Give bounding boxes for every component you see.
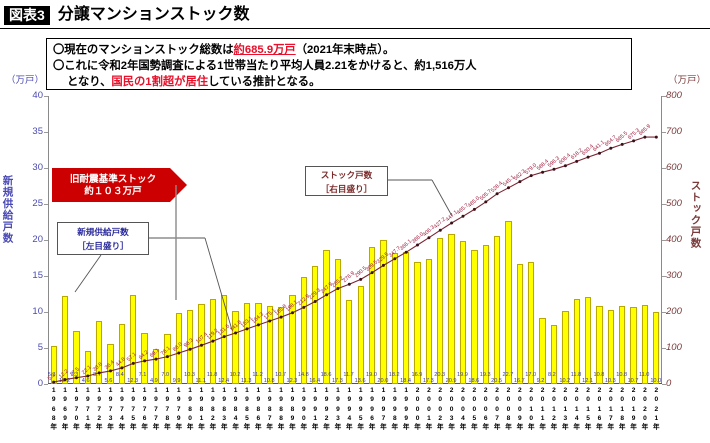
year-digit: 年	[514, 423, 525, 432]
year-label: 2000年	[412, 386, 423, 432]
stock-point	[359, 278, 362, 281]
year-digit: 年	[367, 423, 378, 432]
year-digit: 9	[321, 395, 332, 404]
year-digit: 年	[230, 423, 241, 432]
year-digit: 年	[276, 423, 287, 432]
stock-point	[291, 311, 294, 314]
callout-1-highlight: 約685.9万戸	[234, 44, 296, 56]
year-digit: 年	[605, 423, 616, 432]
banner-line-2: 約１０３万戸	[52, 187, 174, 197]
year-digit: 7	[94, 405, 105, 414]
year-label: 1970年	[71, 386, 82, 432]
year-digit: 9	[389, 395, 400, 404]
year-digit: 2	[651, 386, 662, 395]
banner-line-1: 旧耐震基準ストック	[52, 175, 174, 185]
right-tick-label: 300	[666, 270, 696, 281]
year-digit: 8	[276, 405, 287, 414]
year-digit: 9	[60, 414, 71, 423]
year-digit: 1	[116, 386, 127, 395]
right-tick-label: 400	[666, 234, 696, 245]
year-digit: 年	[469, 423, 480, 432]
year-digit: 1	[605, 405, 616, 414]
year-digit: 1	[537, 405, 548, 414]
year-label: 2009年	[514, 386, 525, 432]
year-digit: 7	[105, 405, 116, 414]
year-digit: 9	[219, 395, 230, 404]
year-label: 1987年	[264, 386, 275, 432]
year-label: 2001年	[423, 386, 434, 432]
year-label: 1982年	[207, 386, 218, 432]
year-digit: 4	[116, 414, 127, 423]
year-digit: 9	[401, 395, 412, 404]
year-digit: 9	[230, 395, 241, 404]
year-digit: 年	[412, 423, 423, 432]
year-digit: 9	[253, 395, 264, 404]
year-digit: 0	[435, 405, 446, 414]
year-digit: 2	[94, 414, 105, 423]
year-digit: 8	[162, 414, 173, 423]
year-digit: 1	[94, 386, 105, 395]
year-digit: 0	[412, 414, 423, 423]
year-digit: 0	[639, 395, 650, 404]
year-digit: 2	[503, 386, 514, 395]
figure-badge: 図表3	[4, 6, 50, 25]
stock-point	[189, 348, 192, 351]
year-digit: 1	[196, 414, 207, 423]
year-digit: 9	[196, 395, 207, 404]
year-digit: 年	[241, 423, 252, 432]
year-digit: 1	[48, 386, 59, 395]
year-digit: 9	[514, 414, 525, 423]
year-label: 1989年	[287, 386, 298, 432]
year-digit: 年	[480, 423, 491, 432]
year-digit: 0	[537, 395, 548, 404]
year-digit: 年	[60, 423, 71, 432]
year-digit: 2	[492, 386, 503, 395]
stock-point	[52, 381, 55, 384]
year-digit: 年	[94, 423, 105, 432]
stock-point	[621, 143, 624, 146]
year-digit: 9	[355, 395, 366, 404]
year-digit: 2	[605, 386, 616, 395]
year-digit: 8	[241, 405, 252, 414]
year-label: 1983年	[219, 386, 230, 432]
legend-box-new-supply: 新規供給戸数 ［左目盛り］	[57, 222, 149, 255]
year-digit: 1	[401, 386, 412, 395]
stock-point	[484, 200, 487, 203]
year-digit: 年	[503, 423, 514, 432]
legend-supply-axis: ［左目盛り］	[58, 239, 148, 253]
callout-3a: となり、	[67, 76, 111, 88]
year-digit: 0	[469, 395, 480, 404]
year-digit: 6	[594, 414, 605, 423]
year-digit: 年	[287, 423, 298, 432]
stock-point	[575, 160, 578, 163]
year-digit: 0	[514, 395, 525, 404]
year-digit: 0	[503, 405, 514, 414]
stock-point	[473, 208, 476, 211]
year-digit: 1	[583, 405, 594, 414]
year-digit: 0	[651, 395, 662, 404]
stock-point	[132, 362, 135, 365]
year-label: 2016年	[594, 386, 605, 432]
year-digit: 9	[94, 395, 105, 404]
year-digit: 年	[162, 423, 173, 432]
year-digit: 2	[548, 386, 559, 395]
year-digit: 0	[526, 414, 537, 423]
year-digit: 1	[196, 386, 207, 395]
left-tick-label: 10	[17, 306, 43, 317]
year-digit: 1	[173, 386, 184, 395]
year-label: 1997年	[378, 386, 389, 432]
year-digit: 1	[82, 414, 93, 423]
left-tick-label: 0	[17, 378, 43, 389]
year-label: 1972年	[94, 386, 105, 432]
stock-point	[166, 355, 169, 358]
year-digit: 2	[321, 414, 332, 423]
stock-point	[280, 316, 283, 319]
year-digit: 3	[560, 414, 571, 423]
year-digit: 3	[105, 414, 116, 423]
year-digit: 2	[480, 386, 491, 395]
year-digit: 年	[548, 423, 559, 432]
year-digit: 0	[639, 414, 650, 423]
year-label: 1993年	[332, 386, 343, 432]
year-digit: 9	[378, 405, 389, 414]
year-digit: 7	[173, 405, 184, 414]
year-digit: 5	[128, 414, 139, 423]
year-digit: 9	[344, 405, 355, 414]
summary-callout: 〇現在のマンションストック総数は約685.9万戸（2021年末時点）。 〇これに…	[46, 38, 632, 90]
year-digit: 6	[139, 414, 150, 423]
year-digit: 年	[651, 423, 662, 432]
year-digit: 8	[276, 414, 287, 423]
right-tick-label: 500	[666, 198, 696, 209]
year-digit: 9	[401, 405, 412, 414]
year-digit: 0	[412, 405, 423, 414]
year-digit: 年	[378, 423, 389, 432]
year-digit: 9	[344, 395, 355, 404]
year-digit: 年	[355, 423, 366, 432]
year-digit: 1	[548, 405, 559, 414]
year-digit: 3	[446, 414, 457, 423]
year-digit: 0	[446, 405, 457, 414]
callout-3b: している推計となる。	[208, 76, 320, 88]
year-digit: 7	[162, 405, 173, 414]
year-digit: 0	[548, 395, 559, 404]
year-digit: 1	[207, 386, 218, 395]
stock-point	[405, 251, 408, 254]
year-digit: 7	[151, 414, 162, 423]
year-digit: 9	[321, 405, 332, 414]
year-label: 1969年	[60, 386, 71, 432]
year-label: 1976年	[139, 386, 150, 432]
year-digit: 1	[287, 386, 298, 395]
year-label: 2014年	[571, 386, 582, 432]
year-digit: 2	[583, 386, 594, 395]
stock-point	[587, 156, 590, 159]
year-digit: 9	[332, 405, 343, 414]
year-digit: 1	[82, 386, 93, 395]
year-digit: 年	[435, 423, 446, 432]
year-digit: 9	[241, 395, 252, 404]
year-digit: 5	[355, 414, 366, 423]
stock-point	[302, 306, 305, 309]
callout-line-3: となり、国民の1割超が居住している推計となる。	[53, 74, 625, 90]
year-digit: 6	[60, 405, 71, 414]
stock-point	[655, 136, 658, 139]
year-digit: 7	[264, 414, 275, 423]
right-tick-label: 700	[666, 126, 696, 137]
legend-box-stock: ストック戸数 ［右目盛り］	[305, 166, 388, 196]
year-digit: 0	[605, 395, 616, 404]
year-digit: 0	[492, 395, 503, 404]
stock-point	[541, 171, 544, 174]
year-digit: 年	[139, 423, 150, 432]
stock-point	[609, 147, 612, 150]
year-digit: 1	[185, 386, 196, 395]
year-digit: 7	[71, 405, 82, 414]
stock-point	[553, 168, 556, 171]
year-digit: 9	[173, 395, 184, 404]
year-digit: 9	[173, 414, 184, 423]
stock-point	[143, 359, 146, 362]
right-tick-label: 0	[666, 378, 696, 389]
year-digit: 1	[219, 386, 230, 395]
year-digit: 5	[241, 414, 252, 423]
year-digit: 1	[560, 405, 571, 414]
year-digit: 0	[628, 395, 639, 404]
year-digit: 1	[310, 414, 321, 423]
year-digit: 年	[389, 423, 400, 432]
year-digit: 年	[446, 423, 457, 432]
stock-point	[439, 229, 442, 232]
year-digit: 2	[560, 386, 571, 395]
stock-point	[177, 352, 180, 355]
year-label: 2004年	[458, 386, 469, 432]
stock-point	[257, 323, 260, 326]
year-digit: 8	[503, 414, 514, 423]
year-digit: 0	[423, 405, 434, 414]
callout-3-highlight: 国民の1割超が居住	[111, 76, 208, 88]
year-digit: 1	[310, 386, 321, 395]
year-digit: 9	[105, 395, 116, 404]
stock-point	[530, 174, 533, 177]
year-digit: 9	[389, 405, 400, 414]
year-digit: 8	[253, 405, 264, 414]
left-tick-label: 20	[17, 234, 43, 245]
year-digit: 2	[594, 386, 605, 395]
year-digit: 9	[287, 395, 298, 404]
year-digit: 2	[435, 386, 446, 395]
year-label: 1971年	[82, 386, 93, 432]
year-digit: 9	[139, 395, 150, 404]
callout-line-2: 〇これに令和2年国勢調査による1世帯当たり平均人員2.21をかけると、約1,51…	[53, 58, 625, 74]
year-digit: 年	[617, 423, 628, 432]
year-label: 2008年	[503, 386, 514, 432]
year-digit: 9	[298, 405, 309, 414]
year-digit: 年	[151, 423, 162, 432]
year-digit: 年	[128, 423, 139, 432]
year-label: 2007年	[492, 386, 503, 432]
year-digit: 年	[628, 423, 639, 432]
year-digit: 年	[196, 423, 207, 432]
stock-point	[393, 257, 396, 260]
year-digit: 0	[435, 395, 446, 404]
year-digit: 6	[480, 414, 491, 423]
year-label: 2013年	[560, 386, 571, 432]
stock-point	[518, 180, 521, 183]
year-digit: 1	[651, 414, 662, 423]
left-tick-label: 5	[17, 342, 43, 353]
year-label: 1996年	[367, 386, 378, 432]
year-digit: 4	[230, 414, 241, 423]
year-digit: 年	[207, 423, 218, 432]
year-digit: 4	[571, 414, 582, 423]
year-digit: 8	[264, 405, 275, 414]
left-tick-label: 25	[17, 198, 43, 209]
legend-supply-label: 新規供給戸数	[58, 225, 148, 239]
year-digit: 年	[310, 423, 321, 432]
year-digit: 8	[207, 405, 218, 414]
year-label: 1988年	[276, 386, 287, 432]
year-digit: 9	[378, 395, 389, 404]
year-digit: 1	[628, 405, 639, 414]
year-digit: 9	[264, 395, 275, 404]
year-digit: 8	[219, 405, 230, 414]
stock-point	[314, 300, 317, 303]
year-digit: 2	[458, 386, 469, 395]
year-digit: 1	[264, 386, 275, 395]
year-digit: 1	[526, 405, 537, 414]
year-label: 1975年	[128, 386, 139, 432]
year-digit: 年	[458, 423, 469, 432]
year-digit: 9	[355, 405, 366, 414]
stock-point	[211, 340, 214, 343]
year-label: 2021年	[651, 386, 662, 432]
year-digit: 7	[605, 414, 616, 423]
year-digit: 1	[321, 386, 332, 395]
year-digit: 7	[151, 405, 162, 414]
year-digit: 9	[276, 395, 287, 404]
year-digit: 7	[139, 405, 150, 414]
year-digit: 1	[355, 386, 366, 395]
year-digit: 9	[162, 395, 173, 404]
stock-point	[462, 215, 465, 218]
year-digit: 9	[71, 395, 82, 404]
year-digit: 9	[310, 405, 321, 414]
stock-point	[598, 152, 601, 155]
year-digit: 1	[298, 386, 309, 395]
year-label: 2018年	[617, 386, 628, 432]
year-digit: 年	[571, 423, 582, 432]
year-digit: 1	[241, 386, 252, 395]
year-digit: 0	[469, 405, 480, 414]
year-digit: 1	[332, 386, 343, 395]
stock-point	[64, 378, 67, 381]
year-digit: 0	[298, 414, 309, 423]
right-tick-label: 800	[666, 90, 696, 101]
year-digit: 0	[185, 414, 196, 423]
year-digit: 4	[344, 414, 355, 423]
stock-point	[371, 271, 374, 274]
stock-point	[268, 320, 271, 323]
banner-arrow-head	[170, 168, 187, 202]
year-digit: 4	[458, 414, 469, 423]
left-tick-label: 30	[17, 162, 43, 173]
left-axis-unit: （万戸）	[6, 72, 44, 86]
year-label: 1998年	[389, 386, 400, 432]
year-digit: 0	[560, 395, 571, 404]
year-digit: 年	[583, 423, 594, 432]
stock-point	[632, 139, 635, 142]
year-label: 2012年	[548, 386, 559, 432]
right-tick-label: 200	[666, 306, 696, 317]
year-digit: 年	[173, 423, 184, 432]
year-digit: 0	[458, 395, 469, 404]
year-digit: 1	[571, 405, 582, 414]
year-digit: 8	[185, 405, 196, 414]
year-digit: 1	[253, 386, 264, 395]
year-digit: 2	[435, 414, 446, 423]
year-digit: 年	[185, 423, 196, 432]
stock-point	[246, 327, 249, 330]
year-digit: 年	[526, 423, 537, 432]
left-tick-label: 40	[17, 90, 43, 101]
year-label: 1968年	[48, 386, 59, 432]
stock-point	[75, 376, 78, 379]
stock-point	[507, 186, 510, 189]
old-seismic-standard-banner: 旧耐震基準ストック 約１０３万戸	[52, 168, 187, 202]
year-digit: 年	[48, 423, 59, 432]
year-label: 2019年	[628, 386, 639, 432]
year-digit: 年	[560, 423, 571, 432]
year-digit: 0	[514, 405, 525, 414]
year-digit: 8	[48, 414, 59, 423]
stock-point	[155, 358, 158, 361]
year-digit: 9	[48, 395, 59, 404]
year-digit: 年	[401, 423, 412, 432]
year-digit: 1	[151, 386, 162, 395]
year-label: 2002年	[435, 386, 446, 432]
year-label: 1985年	[241, 386, 252, 432]
year-digit: 9	[185, 395, 196, 404]
year-digit: 0	[71, 414, 82, 423]
year-digit: 8	[287, 405, 298, 414]
year-digit: 2	[412, 386, 423, 395]
year-digit: 1	[378, 386, 389, 395]
stock-point	[427, 236, 430, 239]
year-digit: 1	[344, 386, 355, 395]
year-label: 1973年	[105, 386, 116, 432]
year-digit: 0	[480, 395, 491, 404]
year-digit: 2	[469, 386, 480, 395]
figure-title: 分譲マンションストック数	[58, 7, 250, 23]
year-digit: 9	[298, 395, 309, 404]
year-digit: 7	[492, 414, 503, 423]
year-label: 1992年	[321, 386, 332, 432]
page-title: 図表3 分譲マンションストック数	[0, 0, 710, 30]
year-digit: 1	[71, 386, 82, 395]
stock-point	[496, 192, 499, 195]
year-digit: 年	[116, 423, 127, 432]
stock-point	[200, 344, 203, 347]
stock-point	[86, 375, 89, 378]
stock-point	[109, 369, 112, 372]
year-digit: 7	[82, 405, 93, 414]
year-digit: 9	[332, 395, 343, 404]
year-digit: 2	[639, 386, 650, 395]
